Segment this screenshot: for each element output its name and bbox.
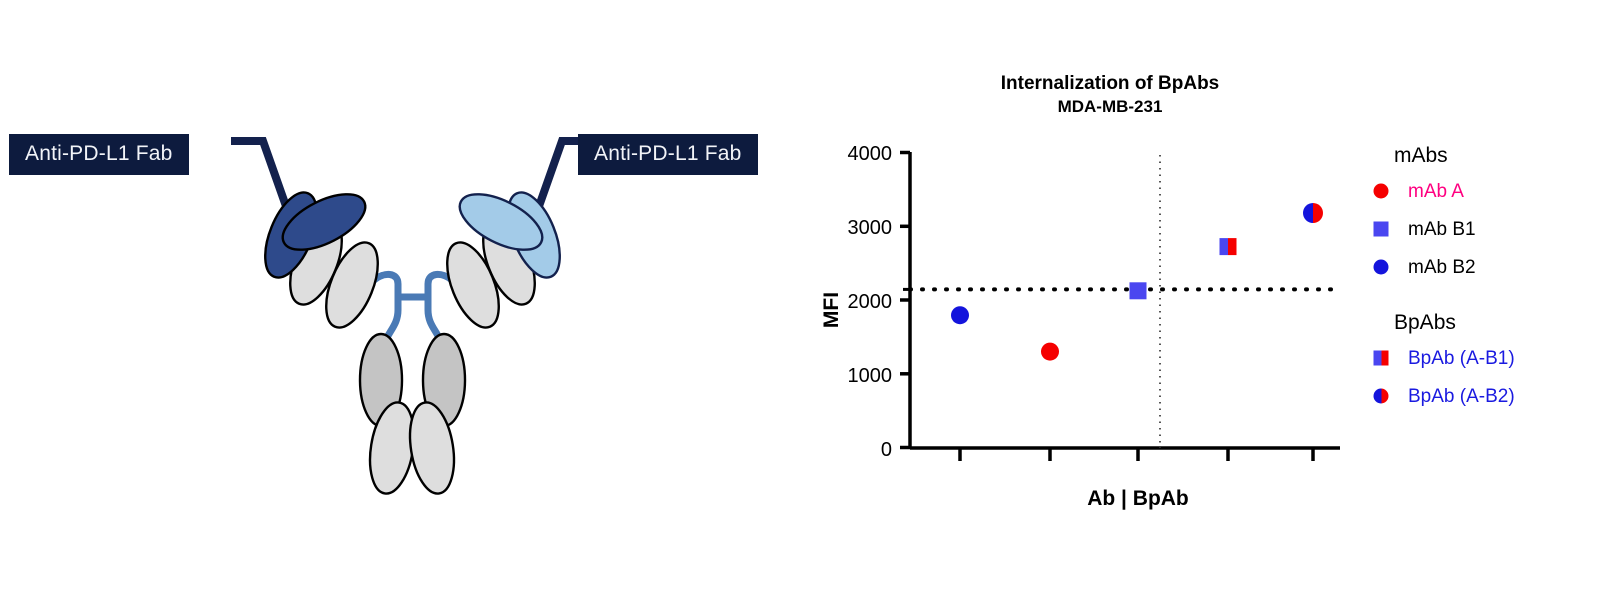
y-tick-label: 3000 [848,217,893,239]
legend-group-header-mabs: mAbs [1394,145,1600,166]
y-tick-label: 4000 [848,143,893,165]
y-tick-label: 0 [881,439,892,461]
fab-arm-right [437,141,594,335]
data-point-mab-b1 [1130,282,1147,299]
antibody-structure-svg [0,0,800,595]
y-tick-label: 1000 [848,365,893,387]
legend-group-header-bpabs: BpAbs [1394,312,1600,333]
legend-marker-square-icon [1368,219,1394,239]
legend-label: BpAb (A-B1) [1408,349,1515,368]
legend-item-mab-a[interactable]: mAb A [1368,172,1600,210]
data-point-bpab-a-b2 [1303,203,1323,223]
legend-item-mab-b1[interactable]: mAb B1 [1368,210,1600,248]
linker-left [231,141,287,209]
anti-pdl1-fab-label-right: Anti-PD-L1 Fab [578,134,758,175]
y-tick-label: 2000 [848,291,893,313]
chart-panel: Internalization of BpAbs MDA-MB-231 4000… [800,0,1600,595]
legend-label: BpAb (A-B2) [1408,387,1515,406]
legend-label: mAb B1 [1408,220,1476,239]
legend-item-mab-b2[interactable]: mAb B2 [1368,248,1600,286]
fab-arm-left [231,141,388,335]
legend-label: mAb B2 [1408,258,1476,277]
legend-marker-half-square-icon [1368,348,1394,368]
x-axis-title: Ab | BpAb [1087,487,1189,510]
legend-item-bpab-a-b1[interactable]: BpAb (A-B1) [1368,339,1600,377]
x-axis-ticks [960,448,1313,461]
legend-spacer [1368,286,1600,312]
data-point-mab-b2 [951,306,969,324]
legend-item-bpab-a-b2[interactable]: BpAb (A-B2) [1368,377,1600,415]
chart-legend: mAbs mAb A mAb B1 mAb B2 BpAbs [1368,145,1600,415]
scatter-plot: 4000 3000 2000 1000 0 MFI Ab | BpAb [800,0,1420,540]
legend-marker-half-circle-icon [1368,386,1394,406]
anti-pdl1-fab-label-left: Anti-PD-L1 Fab [9,134,189,175]
legend-label: mAb A [1408,182,1464,201]
data-point-mab-a [1041,343,1059,361]
data-point-bpab-a-b1 [1220,238,1237,255]
y-axis-tick-labels: 4000 3000 2000 1000 0 [848,143,893,461]
antibody-diagram: Anti-PD-L1 Fab Anti-PD-L1 Fab [0,0,800,595]
legend-marker-circle-icon [1368,181,1394,201]
y-axis-title: MFI [820,292,843,328]
legend-marker-circle-icon [1368,257,1394,277]
